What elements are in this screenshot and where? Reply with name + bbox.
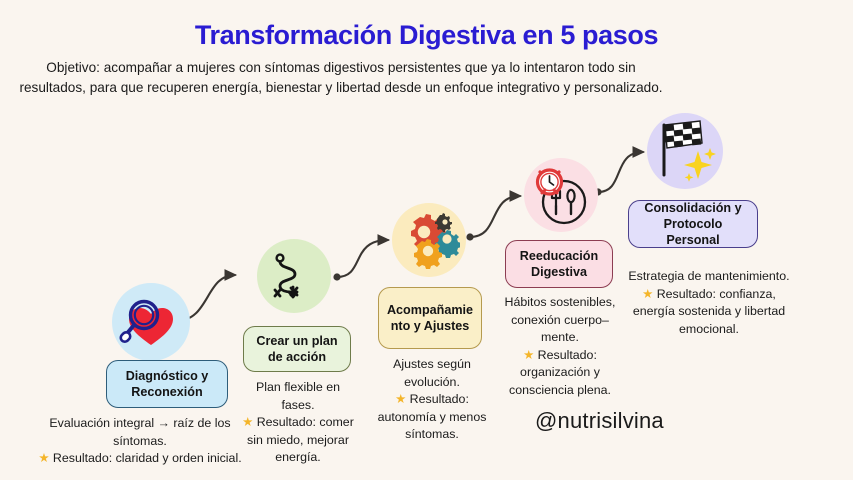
step2-desc-text: Plan flexible en fases.: [256, 380, 340, 412]
step4-chip[interactable]: Reeducación Digestiva: [505, 240, 613, 288]
magnifier-heart-icon: [118, 291, 184, 353]
checkered-flag-sparkle-icon: [650, 117, 720, 185]
step2-description: Plan flexible en fases. ★ Resultado: com…: [239, 379, 357, 467]
star-icon: ★: [642, 287, 653, 301]
step1-description: Evaluación integral → raíz de los síntom…: [24, 415, 256, 468]
step4-bubble: [524, 158, 598, 232]
step3-bubble: [392, 203, 466, 277]
step4-desc-text: Hábitos sostenibles, conexión cuerpo–men…: [505, 295, 616, 344]
step4-description: Hábitos sostenibles, conexión cuerpo–men…: [500, 294, 620, 399]
star-icon: ★: [523, 348, 534, 362]
social-handle: @nutrisilvina: [535, 408, 664, 434]
winding-path-icon: [267, 249, 321, 303]
step3-desc-text: Ajustes según evolución.: [393, 357, 471, 389]
star-icon: ★: [242, 415, 253, 429]
step3-result-text: Resultado: autonomía y menos síntomas.: [378, 392, 487, 441]
step1-desc-text: Evaluación integral → raíz de los síntom…: [49, 416, 230, 448]
step2-chip[interactable]: Crear un plan de acción: [243, 326, 351, 372]
page-title: Transformación Digestiva en 5 pasos: [0, 20, 853, 51]
step5-result-text: Resultado: confianza, energía sostenida …: [633, 287, 785, 336]
step3-description: Ajustes según evolución. ★ Resultado: au…: [374, 356, 490, 444]
step1-bubble: [112, 283, 190, 361]
step1-result-text: Resultado: claridad y orden inicial.: [53, 451, 242, 465]
step3-chip[interactable]: Acompañamie nto y Ajustes: [378, 287, 482, 349]
step2-bubble: [257, 239, 331, 313]
step5-bubble: [647, 113, 723, 189]
star-icon: ★: [395, 392, 406, 406]
gears-icon: [398, 211, 460, 269]
step1-chip[interactable]: Diagnóstico y Reconexión: [106, 360, 228, 408]
alarm-clock-plate-icon: [528, 162, 594, 228]
step5-chip[interactable]: Consolidación y Protocolo Personal: [628, 200, 758, 248]
infographic-canvas: Transformación Digestiva en 5 pasos Obje…: [0, 0, 853, 480]
step5-description: Estrategia de mantenimiento. ★ Resultado…: [620, 268, 798, 338]
step5-desc-text: Estrategia de mantenimiento.: [628, 269, 789, 283]
step2-result-text: Resultado: comer sin miedo, mejorar ener…: [247, 415, 354, 464]
star-icon: ★: [38, 451, 49, 465]
page-subtitle: Objetivo: acompañar a mujeres con síntom…: [16, 58, 666, 98]
